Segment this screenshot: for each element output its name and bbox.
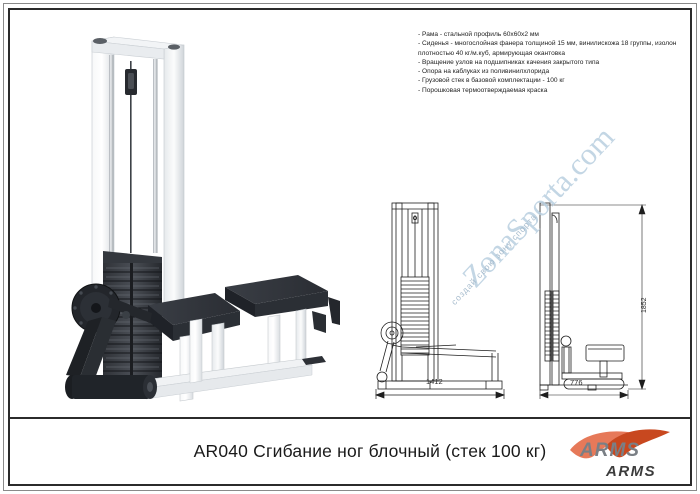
spec-line: - Вращение узлов на подшипниках качения … (418, 58, 680, 67)
specification-list: - Рама - стальной профиль 60х60х2 мм - С… (418, 30, 680, 95)
spec-sheet: - Рама - стальной профиль 60х60х2 мм - С… (0, 0, 700, 494)
spec-line: - Сиденья - многослойная фанера толщиной… (418, 39, 680, 58)
spec-line: - Грузовой стек в базовой комплектации -… (418, 76, 680, 85)
arms-logo: ARMS ARMS (562, 424, 682, 480)
drawing-side-elevation: 1412 (368, 195, 523, 410)
spec-line: - Порошковая термоотверждаемая краска (418, 86, 680, 95)
dimension-width-1412: 1412 (426, 377, 443, 386)
spec-line: - Рама - стальной профиль 60х60х2 мм (418, 30, 680, 39)
svg-text:ARMS: ARMS (605, 463, 656, 480)
drawing-front-elevation: 776 1852 (528, 195, 678, 410)
dimension-height-1852: 1852 (641, 297, 648, 313)
product-photo (40, 25, 370, 410)
dimension-depth-776: 776 (570, 378, 583, 387)
spec-line: - Опора на каблуках из поливинилхлорида (418, 67, 680, 76)
svg-text:ARMS: ARMS (579, 440, 640, 461)
